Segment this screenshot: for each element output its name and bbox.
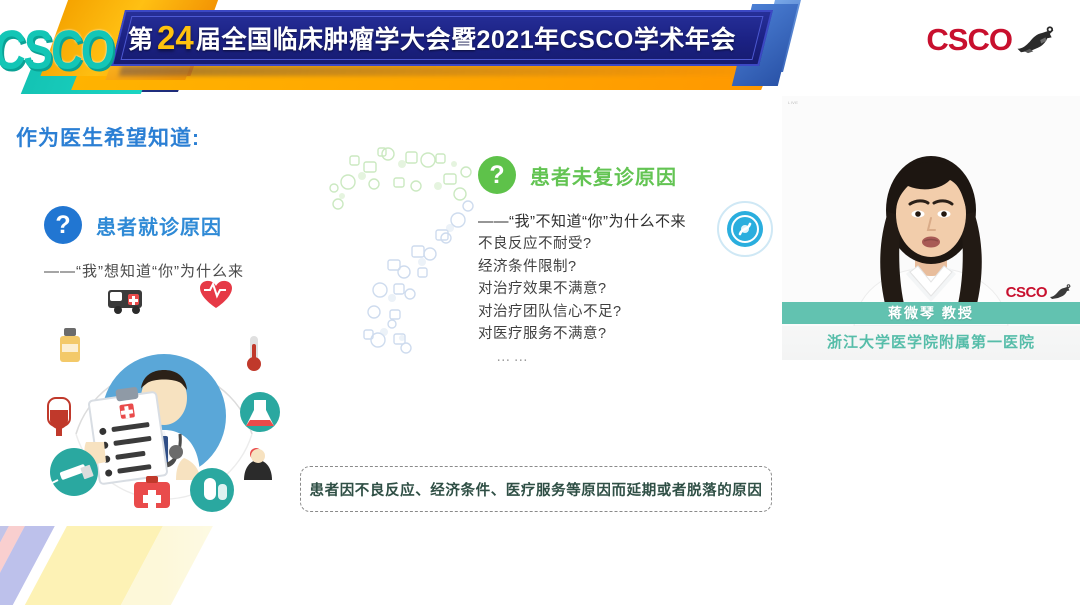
question-mark-badge-green: ? [478,156,516,194]
question-mark-badge-blue: ? [44,206,82,244]
event-title-suffix: 届全国临床肿瘤学大会暨2021年CSCO学术年会 [196,20,736,56]
csco-logo-right: CSCO [926,22,1056,58]
reason-item-ellipsis: …… [478,346,808,368]
reason-item: 对治疗团队信心不足? [478,301,808,323]
patient-visit-reason-header: ? 患者就诊原因 [44,206,344,244]
video-corner-label: LIVE [788,100,798,105]
bottom-fade-overlay [0,526,420,605]
reason-item: 不良反应不耐受? [478,233,808,255]
slide-heading: 作为医生希望知道: [16,122,200,152]
heart-pulse-icon [200,281,232,308]
event-title: 第 24 届全国临床肿瘤学大会暨2021年CSCO学术年会 [122,14,774,62]
reason-item: ——“我”不知道“你”为什么不来 [478,210,808,233]
broadcast-stage: 第 24 届全国临床肿瘤学大会暨2021年CSCO学术年会 CSCO CSCO … [0,0,1080,605]
reason-list: ——“我”不知道“你”为什么不来 不良反应不耐受? 经济条件限制? 对治疗效果不… [478,210,808,368]
speaker-name: 蒋微琴 教授 [888,303,974,323]
blood-bag-icon [48,398,70,436]
reason-item: 对医疗服务不满意? [478,323,808,345]
nurse-icon [244,448,272,480]
reason-item: 对治疗效果不满意? [478,278,808,300]
event-title-prefix: 第 [128,20,154,56]
medicine-bottle-icon [60,328,80,362]
bottom-decoration [0,526,1080,605]
video-csco-dragon-icon [1048,282,1072,302]
thermometer-icon [247,336,261,371]
banner-plaque-shadow [119,66,781,76]
syringe-icon [50,448,98,496]
patient-no-followup-header: ? 患者未复诊原因 [478,156,808,194]
first-aid-kit-icon [134,476,170,508]
speaker-affiliation: 浙江大学医学院附属第一医院 [782,331,1080,352]
patient-no-followup-block: ? 患者未复诊原因 ——“我”不知道“你”为什么不来 不良反应不耐受? 经济条件… [478,156,808,368]
video-csco-watermark: CSCO [1006,282,1072,302]
csco-dragon-icon [1014,22,1056,58]
doctor-illustration [24,266,304,516]
speaker-name-bar: 蒋微琴 教授 [782,302,1080,324]
patient-no-followup-title: 患者未复诊原因 [530,161,677,190]
csco-wordmark-right: CSCO [926,22,1012,58]
conclusion-box: 患者因不良反应、经济条件、医疗服务等原因而延期或者脱落的原因 [300,466,772,512]
conclusion-box-text: 患者因不良反应、经济条件、医疗服务等原因而延期或者脱落的原因 [310,479,763,500]
csco-wordmark-left: CSCO [0,20,114,83]
flask-icon [240,392,280,432]
event-title-edition-number: 24 [154,19,197,57]
reason-item: 经济条件限制? [478,256,808,278]
speaker-video-panel[interactable]: LIVE CSCO 蒋微琴 教授 浙江大学医学院附属第一医院 [782,96,1080,360]
video-csco-wordmark: CSCO [1006,284,1047,301]
pills-icon [190,468,234,512]
ambulance-icon [108,290,142,314]
event-banner: 第 24 届全国临床肿瘤学大会暨2021年CSCO学术年会 CSCO CSCO [0,0,1080,96]
patient-visit-reason-title: 患者就诊原因 [96,211,222,240]
